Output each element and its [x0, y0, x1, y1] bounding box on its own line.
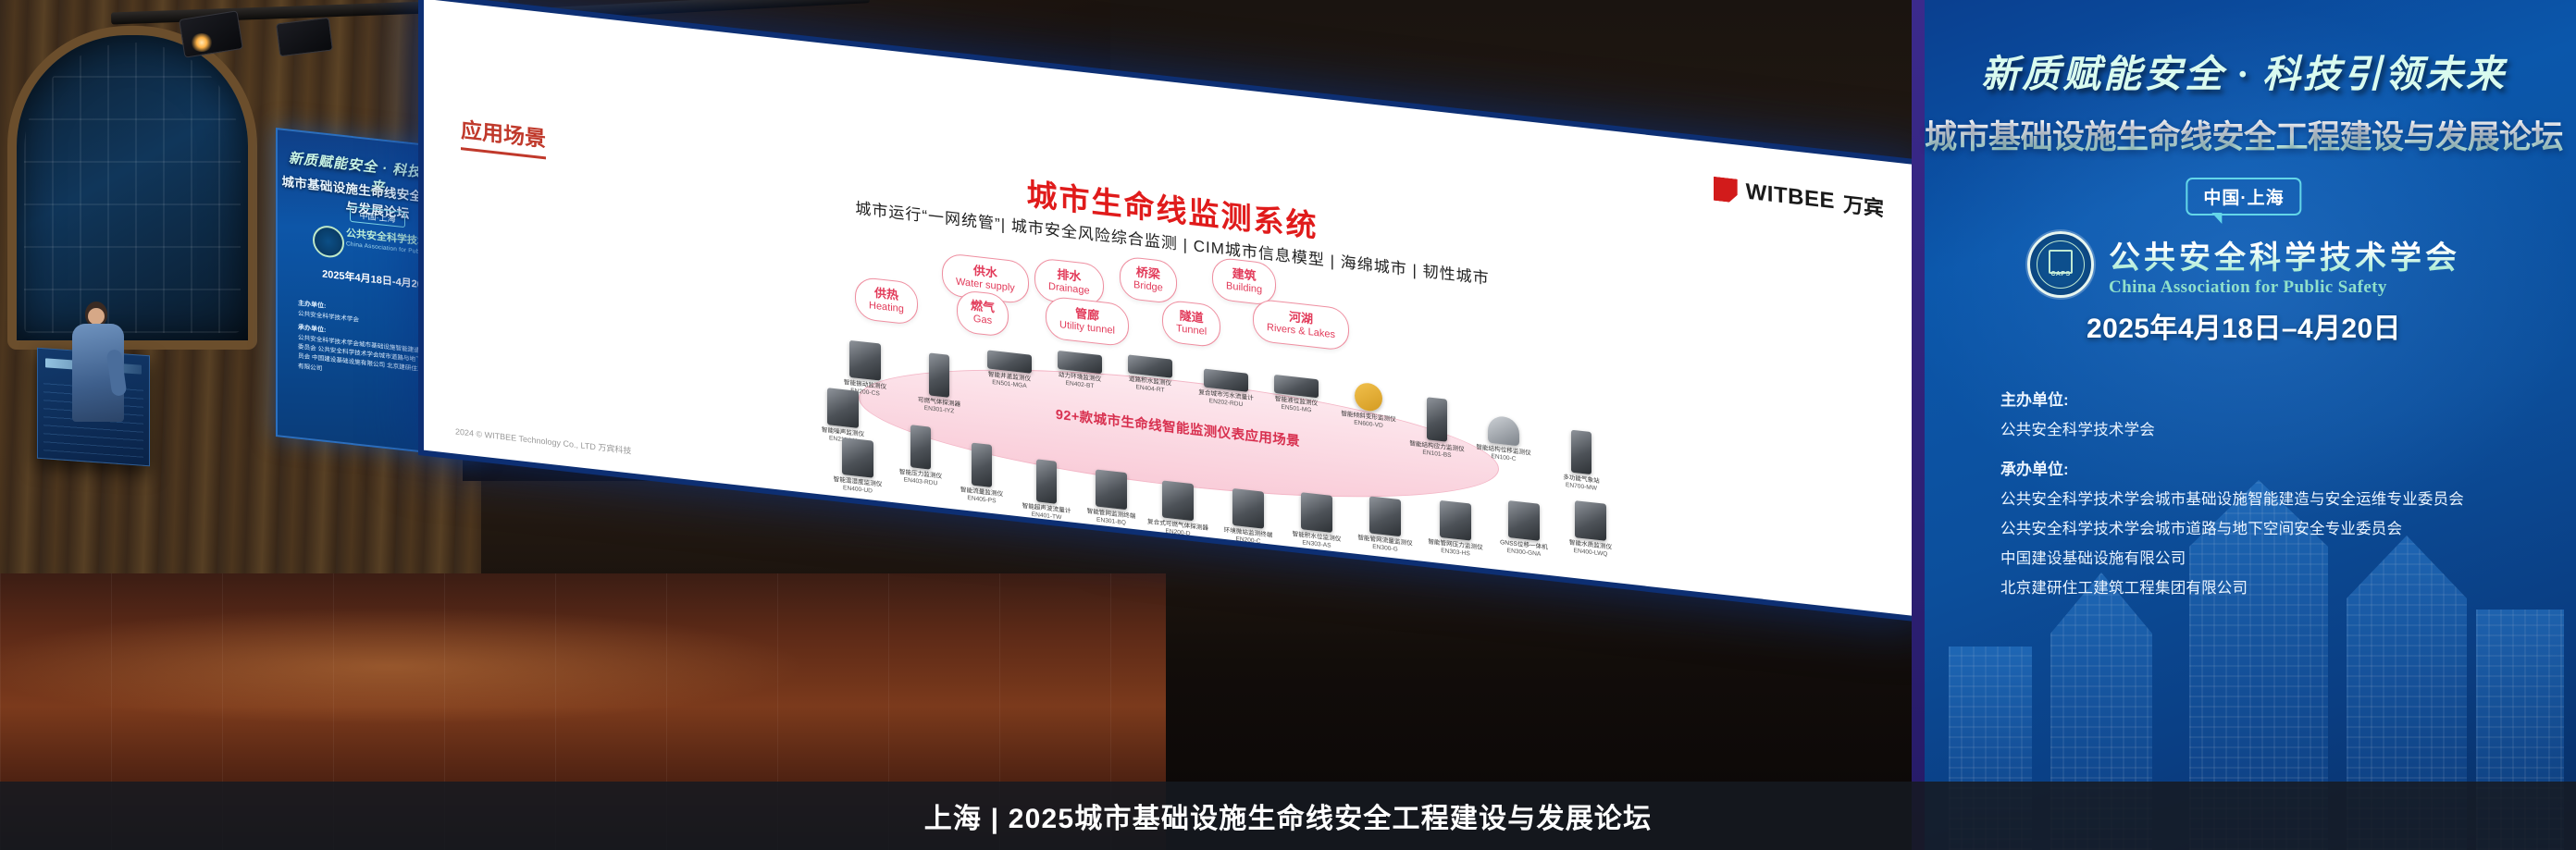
device-item: 智能管网流量监测仪 EN300-G [1351, 494, 1419, 555]
device-image [1274, 375, 1319, 398]
presenter-person [72, 302, 124, 422]
conference-led-panel: 新质赋能安全 · 科技引领未来 城市基础设施生命线安全工程建设与发展论坛 中国·… [1912, 0, 2576, 850]
device-item: 智能管网压力监测仪 EN303-HS [1421, 499, 1490, 560]
device-image [1355, 382, 1382, 413]
device-image [1036, 459, 1057, 503]
device-item: 智能管网监测终端 EN301-BQ [1077, 467, 1146, 528]
device-image [1128, 354, 1172, 377]
device-image [1571, 430, 1591, 474]
device-item: 智能积水位监测仪 EN303-AS [1282, 490, 1351, 551]
device-item: GNSS位移一体机 EN300-GNA [1490, 499, 1558, 560]
stage-floor-reflection [0, 592, 1110, 749]
panel-organizer-line: 公共安全科学技术学会城市道路与地下空间安全专业委员会 [2000, 516, 2565, 538]
device-item: 复合式可燃气体探测器 EN200-D [1144, 478, 1212, 539]
panel-event-date: 2025年4月18日–4月20日 [1912, 305, 2576, 346]
stage-light [191, 33, 213, 52]
device-item: 智能倾斜变形监测仪 EN600-VD [1334, 379, 1403, 431]
device-image [1508, 500, 1540, 541]
device-item: 智能结构位移监测仪 EN100-C [1469, 413, 1538, 464]
device-image [1575, 500, 1606, 541]
stage-speaker [276, 18, 333, 57]
panel-calligraphy-slogan: 新质赋能安全 · 科技引领未来 [1912, 43, 2576, 98]
device-image [972, 443, 992, 487]
device-image [987, 350, 1032, 373]
panel-association-block: CAPS 公共安全科学技术学会 China Association for Pu… [1912, 231, 2576, 298]
caption-bar: 上海 | 2025城市基础设施生命线安全工程建设与发展论坛 [0, 782, 2576, 850]
panel-association-en: China Association for Public Safety [2109, 277, 2460, 298]
scenario-en: Bridge [1133, 279, 1163, 295]
panel-organizer-label: 承办单位: [2000, 456, 2565, 479]
scenario-bubble-bridge: 桥梁 Bridge [1120, 255, 1177, 304]
device-image [1301, 492, 1332, 533]
panel-association-names: 公共安全科学技术学会 China Association for Public … [2109, 232, 2460, 298]
window-arch [7, 26, 257, 350]
slide-copyright: 2024 © WITBEE Technology Co., LTD 万宾科技 [455, 425, 631, 456]
panel-organizer-block: 主办单位: 公共安全科学技术学会 承办单位: 公共安全科学技术学会城市基础设施智… [2000, 387, 2565, 597]
witbee-logo-name: WITBEE [1746, 179, 1835, 216]
device-item: 智能流量监测仪 EN405-PS [947, 440, 1016, 507]
scenario-en: Tunnel [1176, 323, 1207, 339]
device-item: 智能压力监测仪 EN403-RDU [886, 422, 955, 488]
device-image [1369, 496, 1401, 536]
device-image [849, 340, 881, 381]
device-item: 智能液位监测仪 EN501-MG [1262, 373, 1331, 415]
device-item: 复合城市污水流量计 EN202-RDU [1192, 367, 1260, 410]
device-image [842, 437, 873, 478]
panel-forum-title: 城市基础设施生命线安全工程建设与发展论坛 [1912, 111, 2576, 158]
scenario-bubble-tunnel: 隧道 Tunnel [1162, 299, 1220, 348]
device-image [1096, 469, 1127, 510]
device-item: 多功能气象站 EN700-MW [1547, 427, 1616, 494]
device-image [1488, 415, 1519, 447]
panel-organizer-line: 北京建研住工建筑工程集团有限公司 [2000, 575, 2565, 597]
panel-association-cn: 公共安全科学技术学会 [2109, 232, 2460, 277]
scenario-bubble-rivers-lakes: 河湖 Rivers & Lakes [1253, 298, 1349, 351]
witbee-logo-name-cn: 万宾 [1843, 188, 1884, 222]
device-image [929, 352, 949, 397]
device-image [1204, 368, 1248, 391]
side-led-seal-icon [313, 224, 344, 259]
device-item: 智能水质监测仪 EN400-LWQ [1556, 499, 1625, 560]
witbee-logo: WITBEE 万宾 [1714, 174, 1884, 223]
scenario-en: Heating [869, 300, 904, 316]
scenario-en: Building [1226, 280, 1262, 297]
panel-location-badge: 中国·上海 [2186, 178, 2301, 216]
device-item: 智能井盖监测仪 EN501-MGA [975, 349, 1044, 391]
device-item: 智能温湿度监测仪 EN400-UD [824, 436, 892, 497]
device-image [1162, 480, 1194, 521]
device-item: 道路积水监测仪 EN404-RT [1116, 353, 1184, 396]
panel-organizer-line: 中国建设基础设施有限公司 [2000, 546, 2565, 568]
device-image [910, 425, 931, 469]
caption-text: 上海 | 2025城市基础设施生命线安全工程建设与发展论坛 [924, 795, 1653, 836]
screenshot-root: 新质赋能安全 · 科技引领未来 城市基础设施生命线安全工程建设与发展论坛 中国·… [0, 0, 2576, 850]
device-image [1440, 500, 1471, 541]
scenario-bubble-heating: 供热 Heating [855, 277, 918, 326]
caps-seal-text: CAPS [2030, 271, 2091, 277]
device-image [827, 388, 859, 428]
scenario-bubble-utility-tunnel: 管廊 Utility tunnel [1046, 295, 1129, 347]
device-item: 环境微站监测终端 EN200-C [1214, 487, 1282, 548]
device-item: 智能结构应力监测仪 EN101-BS [1403, 394, 1471, 461]
panel-host-label: 主办单位: [2000, 387, 2565, 410]
device-image [1058, 351, 1102, 374]
device-image [1427, 397, 1447, 441]
device-item: 可燃气体探测器 EN301-IYZ [905, 351, 973, 417]
panel-organizer-line: 公共安全科学技术学会城市基础设施智能建造与安全运维专业委员会 [2000, 487, 2565, 509]
scenario-en: Gas [971, 314, 995, 329]
caps-seal-icon: CAPS [2027, 231, 2094, 298]
presenter-face [88, 308, 105, 325]
panel-host-name: 公共安全科学技术学会 [2000, 417, 2565, 439]
scenario-bubble-building: 建筑 Building [1212, 256, 1276, 306]
device-item: 智能超声波流量计 EN401-TW [1012, 456, 1081, 523]
device-item: 动力环境监测仪 EN402-BT [1046, 349, 1114, 391]
witbee-logo-mark-icon [1714, 177, 1738, 203]
device-image [1232, 488, 1264, 529]
